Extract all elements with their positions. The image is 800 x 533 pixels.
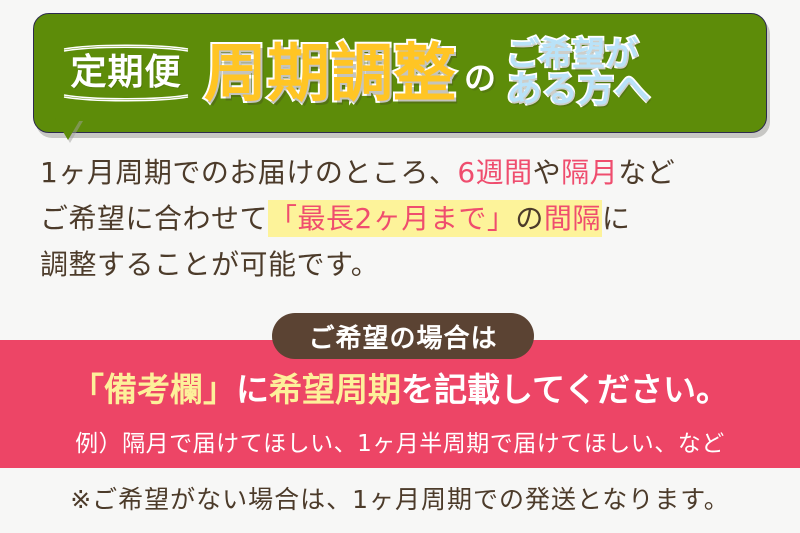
description-paragraph: 1ヶ月周期でのお届けのところ、6週間や隔月など ご希望に合わせて「最長2ヶ月まで… <box>40 150 780 288</box>
description-line-2: ご希望に合わせて「最長2ヶ月まで」の間隔に <box>40 196 780 242</box>
banner-content: 定期便 周期調整 の ご希望が ある方へ <box>34 14 766 132</box>
instruction-text-1: に <box>236 370 269 409</box>
desc-l2-accent-1: 「最長2ヶ月まで」 <box>269 202 515 235</box>
instruction-example: 例）隔月で届けてほしい、1ヶ月半周期で届けてほしい、など <box>0 424 800 458</box>
wave-line-top-icon <box>62 43 190 52</box>
desc-l2-accent-2: 間隔 <box>544 202 601 235</box>
subscription-badge-label: 定期便 <box>70 52 181 93</box>
wave-line-bottom-icon <box>62 94 190 103</box>
footer-note: ※ご希望がない場合は、1ヶ月周期での発送となります。 <box>0 480 800 516</box>
headline-sub-line1: ご希望が <box>506 37 650 71</box>
description-line-1: 1ヶ月周期でのお届けのところ、6週間や隔月など <box>40 150 780 196</box>
instruction-headline: 「備考欄」に希望周期を記載してください。 <box>0 363 800 411</box>
headline-main: 周期調整 <box>204 42 456 105</box>
headline-sub-line2: ある方へ <box>506 72 650 109</box>
instruction-accent-1: 「備考欄」 <box>71 370 236 409</box>
description-line-3: 調整することが可能です。 <box>40 242 780 288</box>
headline-particle: の <box>464 62 496 94</box>
promo-banner-page: 定期便 周期調整 の ご希望が ある方へ 1ヶ月周期でのお届けのところ、6週間や… <box>0 0 800 533</box>
green-headline-banner: 定期便 周期調整 の ご希望が ある方へ <box>33 13 767 133</box>
speech-bubble-tail-icon <box>55 118 81 140</box>
instruction-text-2: を記載してください。 <box>401 370 729 409</box>
desc-l1-text-c: など <box>618 156 675 189</box>
desc-l1-accent-2: 隔月 <box>561 156 618 189</box>
subscription-badge: 定期便 <box>62 43 190 102</box>
desc-l1-text-b: や <box>533 156 562 189</box>
wish-case-pill-label: ご希望の場合は <box>272 313 534 359</box>
headline-sub: ご希望が ある方へ <box>506 37 650 108</box>
desc-l2-text-a: ご希望に合わせて <box>40 202 268 235</box>
desc-l2-text-b: に <box>602 202 631 235</box>
desc-l2-highlight-gray: の <box>515 202 544 235</box>
desc-l2-highlight: 「最長2ヶ月まで」の間隔 <box>268 200 602 237</box>
desc-l1-text-a: 1ヶ月周期でのお届けのところ、 <box>40 156 457 189</box>
instruction-accent-2: 希望周期 <box>269 370 401 409</box>
desc-l1-accent-1: 6週間 <box>457 156 532 189</box>
